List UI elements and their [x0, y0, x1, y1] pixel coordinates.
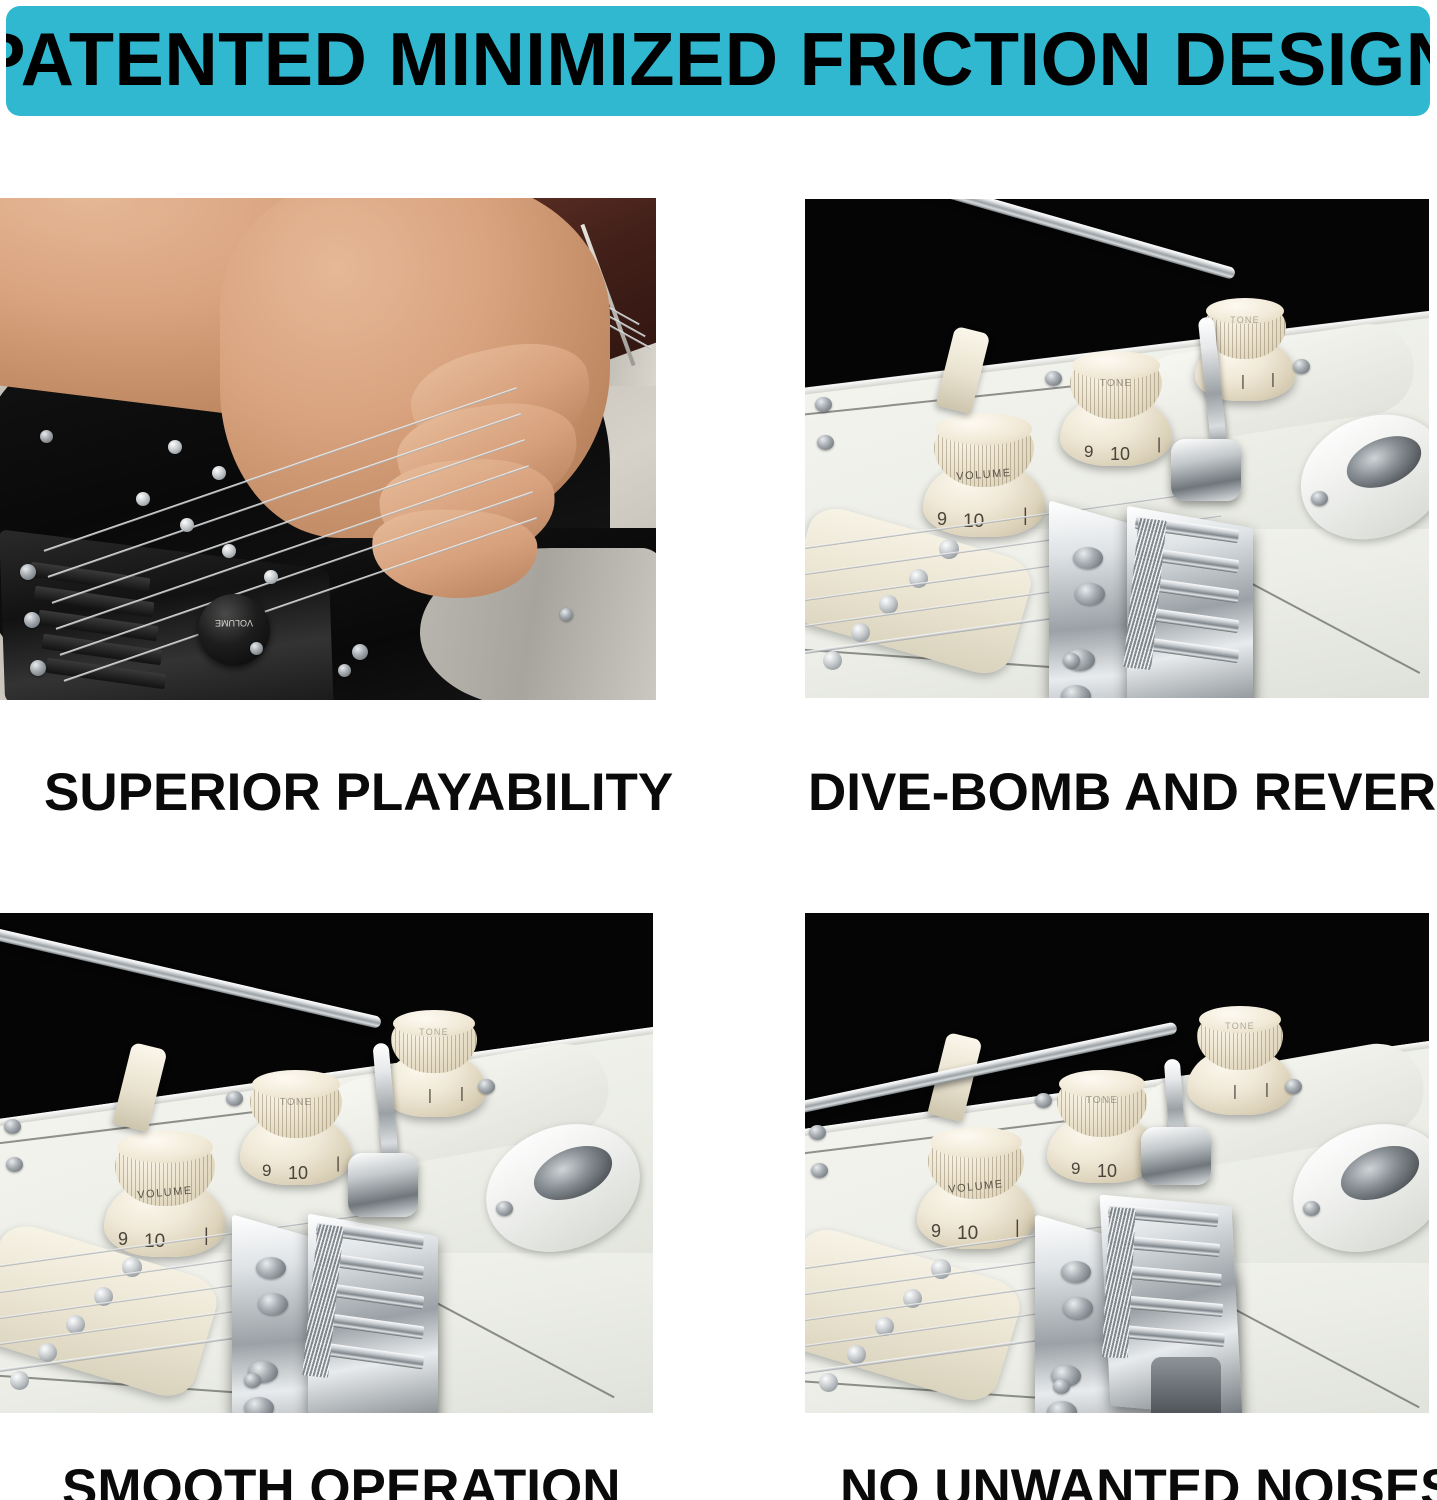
tremolo-saddles	[1131, 517, 1251, 698]
pickup-pole	[879, 595, 898, 614]
tone-knob-label: TONE	[240, 1097, 352, 1108]
pickguard-screw	[1285, 1079, 1302, 1094]
product-photo-superior-playability: VOLUME	[0, 198, 656, 700]
bridge-screw	[20, 564, 36, 580]
tone-knob-number-9: 9	[1084, 442, 1093, 462]
knob-tick: |	[1157, 436, 1161, 454]
pickguard-screw	[40, 430, 53, 443]
pickguard-screw	[1053, 1379, 1070, 1394]
bridge-saddle	[316, 1342, 425, 1370]
knob-tick: |	[336, 1155, 340, 1173]
volume-knob-black[interactable]	[198, 594, 270, 666]
bridge-mounting-screw	[256, 1257, 286, 1279]
tone-knob-number-9: 9	[262, 1161, 271, 1181]
tone-knob-label: TONE	[1187, 1021, 1293, 1031]
product-photo-dive-bomb-reverse: VOLUME 9 10 | TONE 9 10 | TONE | |	[805, 199, 1429, 698]
volume-knob-number-10: 10	[957, 1223, 978, 1245]
pickguard-screw	[815, 397, 832, 412]
infographic-page: PATENTED MINIMIZED FRICTION DESIGN	[0, 0, 1437, 1500]
tone-knob-1[interactable]: TONE 9 10 |	[240, 1073, 352, 1185]
pickup-pole	[10, 1371, 29, 1390]
pickup-pole	[847, 1345, 866, 1364]
pickguard-screw	[1063, 653, 1080, 668]
pickguard-screw	[560, 608, 573, 621]
pickguard-screw	[6, 1157, 23, 1172]
pickguard-screw	[809, 1125, 826, 1140]
knob-tick: |	[1233, 1083, 1237, 1100]
caption-superior-playability: SUPERIOR PLAYABILITY	[44, 766, 673, 819]
pickup-pole	[38, 1343, 57, 1362]
pickguard-screw	[478, 1079, 495, 1094]
tremolo-block-shadow	[1151, 1357, 1221, 1413]
pickup-pole	[180, 518, 194, 532]
pickup-pole	[851, 623, 870, 642]
bridge-mounting-screw	[1073, 547, 1103, 569]
caption-smooth-operation: SMOOTH OPERATION	[62, 1462, 620, 1500]
pickup-pole	[264, 570, 278, 584]
bridge-screw	[30, 660, 46, 676]
knob-top	[1072, 351, 1159, 380]
knob-top	[930, 1127, 1022, 1158]
bridge-screw	[24, 612, 40, 628]
bridge-saddle	[1114, 1324, 1225, 1347]
pickguard-screw	[1293, 359, 1310, 374]
jack-plate-screw	[496, 1201, 513, 1216]
knob-tick: |	[1015, 1217, 1020, 1238]
tone-knob-number-10: 10	[1110, 444, 1130, 465]
pickup-pole	[136, 492, 150, 506]
pickup-pole	[222, 544, 236, 558]
whammy-bar-collar	[348, 1153, 418, 1217]
pickguard-screw	[250, 642, 263, 655]
knob-top	[936, 413, 1031, 444]
product-photo-smooth-operation: VOLUME 9 10 | TONE 9 10 | TONE | |	[0, 913, 653, 1413]
pickup-pole	[212, 466, 226, 480]
caption-no-unwanted-noises: NO UNWANTED NOISES	[840, 1462, 1437, 1500]
tone-knob-label: TONE	[1047, 1095, 1157, 1106]
pickup-pole	[819, 1373, 838, 1392]
volume-knob-number-9: 9	[931, 1221, 941, 1242]
volume-knob-label: VOLUME	[198, 618, 270, 628]
jack-plate-screw	[1303, 1201, 1320, 1216]
pickguard-screw	[226, 1091, 243, 1106]
jack-plate-screw	[1311, 491, 1328, 506]
knob-tick: |	[428, 1087, 432, 1104]
pickup-pole	[823, 651, 842, 670]
bridge-mounting-screw	[1075, 583, 1105, 605]
jack-screw	[352, 644, 368, 660]
knob-tick: |	[1265, 1081, 1269, 1098]
pickup-pole	[939, 539, 959, 559]
caption-dive-bomb-reverse: DIVE-BOMB AND REVERSE	[808, 766, 1437, 819]
volume-knob[interactable]: VOLUME 9 10 |	[104, 1135, 226, 1257]
knob-top	[1059, 1070, 1145, 1099]
tone-knob-number-9: 9	[1071, 1159, 1080, 1179]
pickguard-screw	[338, 664, 351, 677]
pickguard-screw	[244, 1373, 261, 1388]
bridge-mounting-screw	[1061, 1261, 1091, 1283]
whammy-bar-collar	[1141, 1127, 1211, 1185]
tone-knob-number-10: 10	[288, 1163, 308, 1184]
tone-knob-label: TONE	[1060, 378, 1172, 389]
tone-knob-number-10: 10	[1097, 1161, 1117, 1182]
product-photo-no-unwanted-noises: VOLUME 9 10 | TONE 9 10 | TONE | |	[805, 913, 1429, 1413]
knob-top	[252, 1070, 339, 1099]
tone-knob-2[interactable]: TONE | |	[382, 1013, 486, 1117]
pickguard-screw	[817, 435, 834, 450]
pickguard-screw	[4, 1119, 21, 1134]
tone-knob-1[interactable]: TONE 9 10 |	[1060, 354, 1172, 466]
volume-knob[interactable]: VOLUME 9 10 |	[923, 417, 1045, 537]
knob-tick: |	[1241, 373, 1245, 390]
volume-knob[interactable]: VOLUME 9 10 |	[917, 1131, 1035, 1249]
pickguard-screw	[1045, 371, 1062, 386]
banner-title: PATENTED MINIMIZED FRICTION DESIGN	[6, 22, 1430, 100]
bridge-mounting-screw	[244, 1397, 274, 1413]
tone-knob-label: TONE	[382, 1027, 486, 1037]
knob-tick: |	[460, 1085, 464, 1102]
tremolo-saddles	[312, 1225, 436, 1413]
bridge-mounting-screw	[258, 1293, 288, 1315]
pickup-pole	[168, 440, 182, 454]
whammy-bar-collar	[1171, 439, 1241, 501]
pickguard-screw	[811, 1163, 828, 1178]
knob-top	[117, 1131, 212, 1163]
bridge-mounting-screw	[1063, 1297, 1093, 1319]
header-banner: PATENTED MINIMIZED FRICTION DESIGN	[6, 6, 1430, 116]
knob-tick: |	[1271, 371, 1275, 388]
tone-knob-2[interactable]: TONE | |	[1187, 1009, 1293, 1115]
pickguard-screw	[1035, 1093, 1052, 1108]
